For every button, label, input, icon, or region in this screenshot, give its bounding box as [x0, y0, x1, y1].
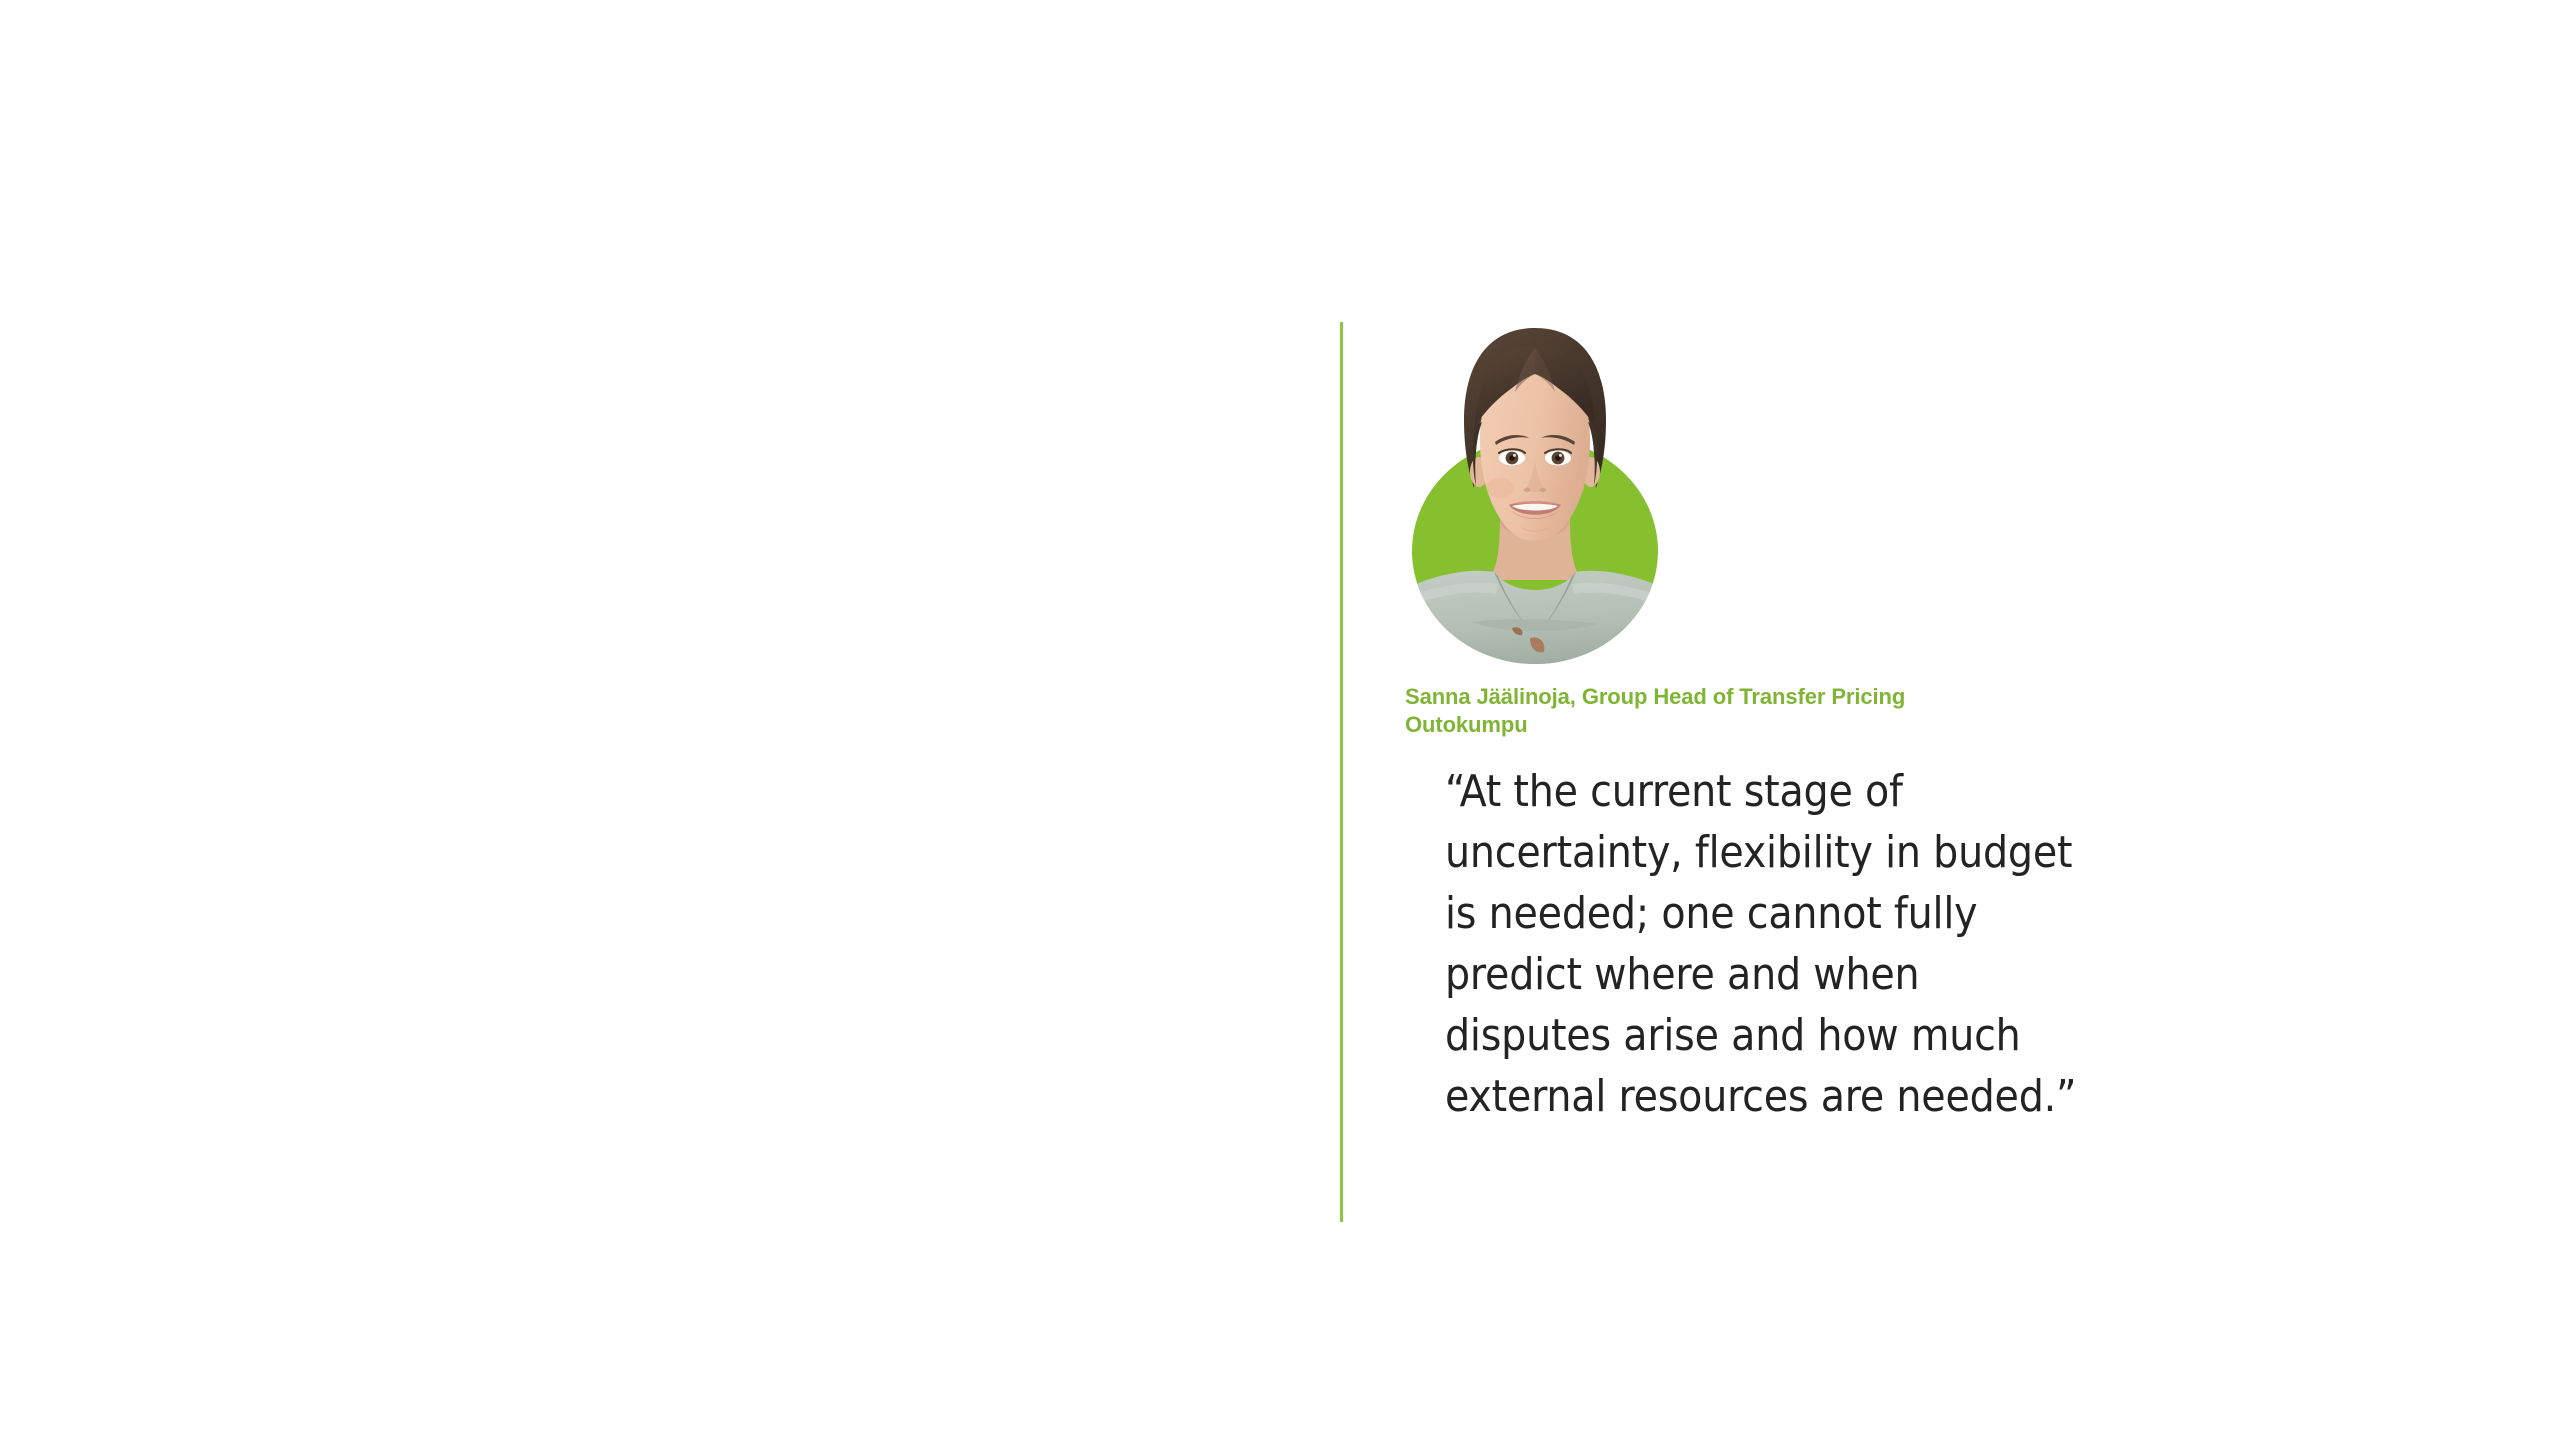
avatar [1412, 322, 1662, 667]
avatar-photo [1412, 322, 1658, 664]
attribution-name-role: Sanna Jäälinoja, Group Head of Transfer … [1405, 683, 2165, 711]
attribution-block: Sanna Jäälinoja, Group Head of Transfer … [1405, 683, 2165, 739]
quote-line: is needed; one cannot fully [1445, 883, 2225, 944]
quote-text: “At the current stage of uncertainty, fl… [1445, 761, 2225, 1127]
quote-card-content: Sanna Jäälinoja, Group Head of Transfer … [1405, 322, 2205, 1171]
quote-line: uncertainty, flexibility in budget [1445, 822, 2225, 883]
quote-line: external resources are needed.” [1445, 1066, 2225, 1127]
attribution-company: Outokumpu [1405, 711, 2165, 739]
vertical-accent-rule [1340, 322, 1343, 1222]
quote-card: Sanna Jäälinoja, Group Head of Transfer … [1340, 322, 2240, 1222]
portrait-illustration [1412, 322, 1658, 664]
quote-line: disputes arise and how much [1445, 1005, 2225, 1066]
quote-line: “At the current stage of [1445, 761, 2225, 822]
quote-line: predict where and when [1445, 944, 2225, 1005]
